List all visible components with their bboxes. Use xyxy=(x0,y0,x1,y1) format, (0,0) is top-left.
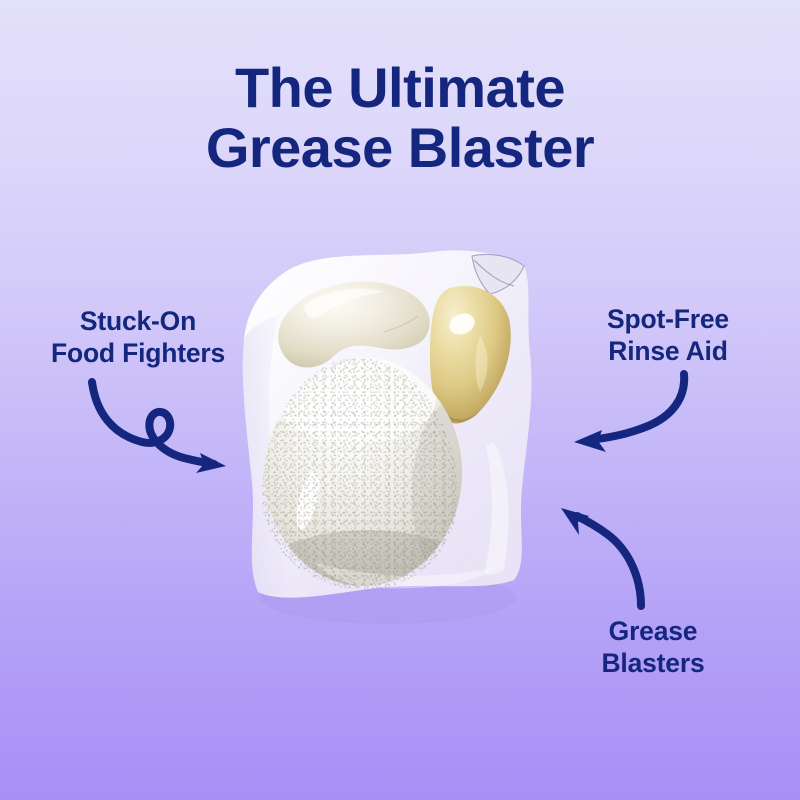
callout-label-spot-free-rinse-aid: Spot-Free Rinse Aid xyxy=(588,303,748,368)
product-pod-image xyxy=(218,232,548,622)
infographic-canvas: The Ultimate Grease Blaster xyxy=(0,0,800,800)
callout-line-2: Blasters xyxy=(578,647,728,679)
title-line-2: Grease Blaster xyxy=(0,118,800,178)
curved-arrow-down-left-icon xyxy=(560,368,700,468)
pod-illustration xyxy=(218,232,548,622)
curved-arrow-up-left-icon xyxy=(545,500,675,620)
callout-line-1: Spot-Free xyxy=(588,303,748,335)
page-title: The Ultimate Grease Blaster xyxy=(0,58,800,179)
callout-label-grease-blasters: Grease Blasters xyxy=(578,615,728,680)
title-line-1: The Ultimate xyxy=(0,58,800,118)
curly-loop-arrow-down-right-icon xyxy=(80,378,240,483)
callout-label-stuck-on-food-fighters: Stuck-On Food Fighters xyxy=(38,305,238,370)
callout-line-2: Rinse Aid xyxy=(588,335,748,367)
callout-line-1: Stuck-On xyxy=(38,305,238,337)
callout-line-2: Food Fighters xyxy=(38,337,238,369)
